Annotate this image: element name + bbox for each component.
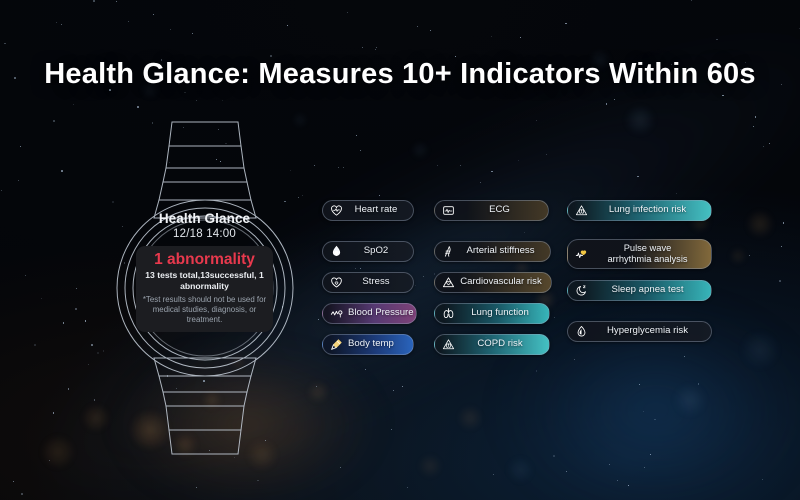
indicator-pill-label: Lung infection risk [593, 205, 702, 216]
indicator-pill-label: Sleep apnea test [593, 285, 702, 296]
indicator-pill[interactable]: SpO2 [322, 241, 414, 262]
indicator-column-2: ECGArterial stiffnessCardiovascular risk… [434, 200, 552, 365]
disclaimer-text: *Test results should not be used for med… [141, 295, 268, 325]
indicator-pill-label: ECG [460, 205, 539, 216]
indicator-pill[interactable]: Body temp [322, 334, 414, 355]
indicator-pill[interactable]: Stress [322, 272, 414, 293]
indicator-pill[interactable]: Cardiovascular risk [434, 272, 552, 293]
heart-pulse-icon [330, 204, 343, 217]
indicator-pill-label: Pulse wavearrhythmia analysis [593, 243, 702, 265]
lungs-icon [442, 307, 455, 320]
warning-heart-icon [442, 276, 455, 289]
indicator-pill-label: SpO2 [348, 246, 404, 257]
indicator-pill[interactable]: Lung function [434, 303, 550, 324]
artery-icon [442, 245, 455, 258]
smartwatch-illustration: Health Glance 12/18 14:00 1 abnormality … [100, 118, 310, 458]
pulse-wave-heart-icon [575, 248, 588, 261]
indicator-pill-label: Body temp [348, 339, 394, 350]
heart-outline-icon [330, 276, 343, 289]
indicator-pill[interactable]: COPD risk [434, 334, 550, 355]
pulse-gauge-icon [330, 307, 343, 320]
indicator-pill-grid: Heart rateSpO2StressBlood PressureBody t… [322, 200, 722, 368]
blood-drop-icon [330, 245, 343, 258]
watch-result-card: 1 abnormality 13 tests total,13successfu… [136, 246, 273, 332]
indicator-pill-label: Lung function [460, 308, 540, 319]
abnormality-headline: 1 abnormality [141, 251, 268, 268]
indicator-pill-label: Hyperglycemia risk [593, 326, 702, 337]
indicator-pill-label: Blood Pressure [348, 308, 414, 319]
indicator-pill-label: COPD risk [460, 339, 540, 350]
warning-lungs-icon [442, 338, 455, 351]
page-title: Health Glance: Measures 10+ Indicators W… [0, 58, 800, 91]
indicator-pill[interactable]: Arterial stiffness [434, 241, 551, 262]
indicator-pill-label: Cardiovascular risk [460, 277, 542, 288]
indicator-pill[interactable]: Blood Pressure [322, 303, 417, 324]
indicator-pill[interactable]: Pulse wavearrhythmia analysis [567, 239, 712, 269]
indicator-column-3: Lung infection riskPulse wavearrhythmia … [567, 200, 712, 352]
watch-screen: Health Glance 12/18 14:00 1 abnormality … [136, 211, 273, 350]
ecg-card-icon [442, 204, 455, 217]
glucose-drop-icon [575, 325, 588, 338]
indicator-pill[interactable]: Hyperglycemia risk [567, 321, 712, 342]
thermometer-icon [330, 338, 343, 351]
warning-lung-infection-icon [575, 204, 588, 217]
moon-sleep-icon [575, 284, 588, 297]
indicator-pill-label: Stress [348, 277, 404, 288]
indicator-pill[interactable]: Heart rate [322, 200, 414, 221]
watch-screen-title: Health Glance [136, 211, 273, 226]
indicator-pill[interactable]: Sleep apnea test [567, 280, 712, 301]
indicator-pill[interactable]: ECG [434, 200, 549, 221]
indicator-pill-label: Arterial stiffness [460, 246, 541, 257]
watch-screen-time: 12/18 14:00 [136, 228, 273, 240]
indicator-pill-label: Heart rate [348, 205, 404, 216]
indicator-column-1: Heart rateSpO2StressBlood PressureBody t… [322, 200, 417, 365]
indicator-pill[interactable]: Lung infection risk [567, 200, 712, 221]
screenshot-stage: Health Glance: Measures 10+ Indicators W… [0, 0, 800, 500]
test-summary-text: 13 tests total,13successful, 1 abnormali… [141, 270, 268, 291]
